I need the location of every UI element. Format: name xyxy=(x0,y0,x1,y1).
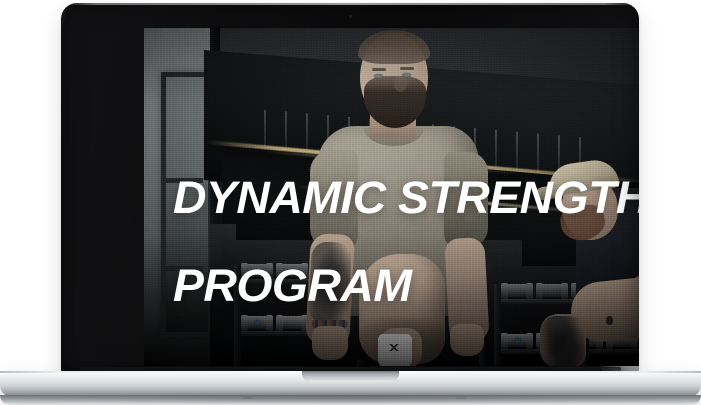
laptop-thumb-notch xyxy=(302,371,399,382)
mockup-stage: DYNAMIC STRENGTH PROGRAM xyxy=(0,0,701,405)
primary-nose xyxy=(394,76,407,92)
webcam-icon xyxy=(349,15,352,18)
hero-photo xyxy=(144,28,639,366)
laptop-mockup: DYNAMIC STRENGTH PROGRAM xyxy=(0,0,701,405)
primary-hair xyxy=(358,30,430,64)
primary-eye-left xyxy=(374,74,383,78)
laptop-base-lip xyxy=(0,395,701,405)
laptop-foot-left xyxy=(242,396,252,399)
primary-brow-right xyxy=(400,67,414,70)
laptop-lid: DYNAMIC STRENGTH PROGRAM xyxy=(61,3,639,373)
primary-arm-tattoo xyxy=(308,241,352,325)
person-primary xyxy=(144,28,639,366)
laptop-screen[interactable]: DYNAMIC STRENGTH PROGRAM xyxy=(144,28,639,366)
primary-sleeve-right xyxy=(444,152,488,248)
primary-hand-left xyxy=(312,326,348,360)
primary-brow-left xyxy=(372,68,386,71)
sock-logo-icon xyxy=(385,344,403,351)
lid-edge-highlight xyxy=(61,3,639,5)
laptop-foot-right xyxy=(456,396,466,399)
